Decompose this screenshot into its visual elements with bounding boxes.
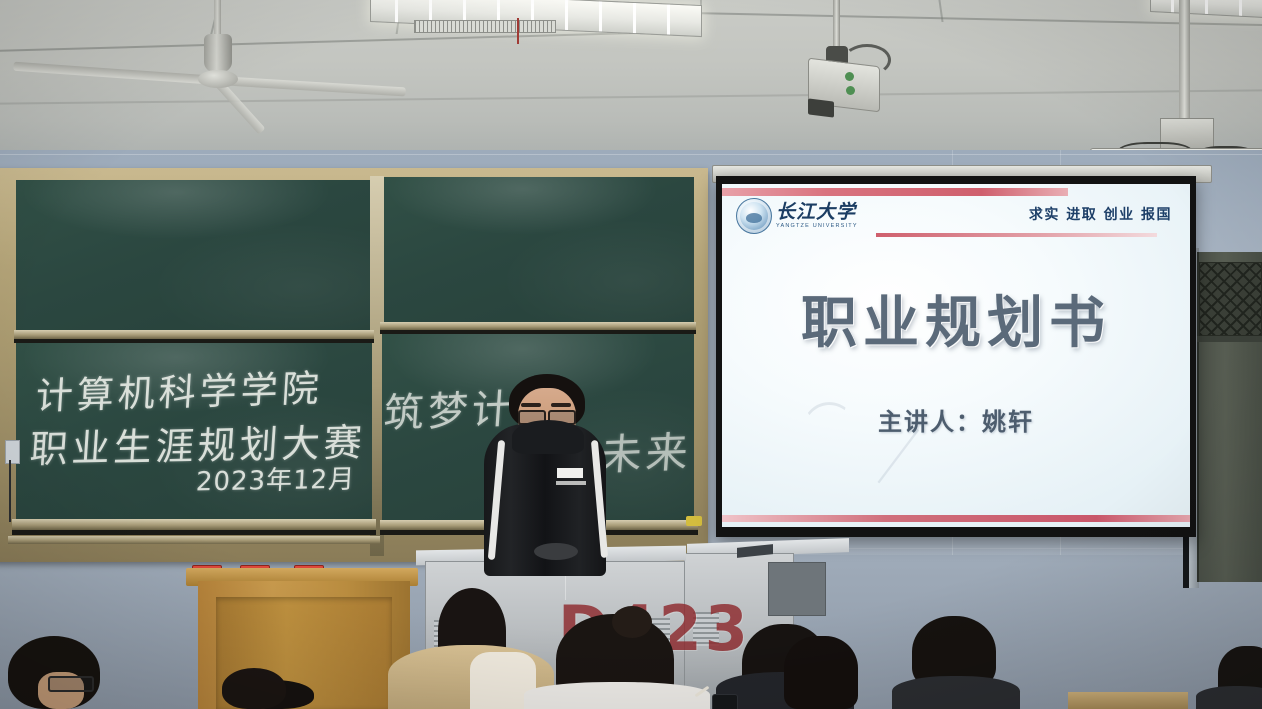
chalkboard-panel-top-right bbox=[382, 177, 694, 325]
university-seal-icon bbox=[736, 198, 772, 234]
chalkboard-ledge-mid-right bbox=[380, 322, 696, 330]
classroom-scene: 计算机科学学院 职业生涯规划大赛 2023年12月 筑梦计科 未来 长江大学 Y… bbox=[0, 0, 1262, 709]
chalkboard-ledge-bottom-left bbox=[12, 519, 376, 530]
projection-screen: 长江大学 YANGTZE UNIVERSITY 求实 进取 创业 报国 ⌒ ／ … bbox=[716, 176, 1196, 537]
presenter-hands bbox=[534, 543, 578, 560]
phone-icon[interactable] bbox=[712, 694, 738, 709]
chalk-text-line3: 2023年12月 bbox=[195, 459, 356, 499]
slide-sub-accent-rule bbox=[876, 233, 1157, 237]
student-desk-edge bbox=[1068, 692, 1188, 709]
wall-cable bbox=[9, 460, 11, 522]
university-name-en: YANGTZE UNIVERSITY bbox=[776, 224, 858, 230]
slide-canvas: 长江大学 YANGTZE UNIVERSITY 求实 进取 创业 报国 ⌒ ／ … bbox=[722, 184, 1190, 527]
teacher-desk-drawer[interactable] bbox=[768, 562, 826, 616]
ceiling-vent-icon bbox=[414, 20, 556, 33]
university-logo: 长江大学 YANGTZE UNIVERSITY bbox=[736, 198, 858, 234]
university-slogan: 求实 进取 创业 报国 bbox=[1029, 204, 1172, 224]
university-name-cn: 长江大学 bbox=[776, 203, 858, 222]
slide-presenter: 主讲人：姚轩 bbox=[722, 402, 1190, 437]
slide-title: 职业规划书 bbox=[722, 278, 1190, 359]
glasses-icon bbox=[48, 676, 94, 692]
hanging-wire bbox=[517, 18, 519, 44]
chalk-text-right2: 未来 bbox=[598, 418, 694, 482]
wall-switch[interactable] bbox=[5, 440, 20, 464]
door-transom-grille-icon bbox=[1199, 262, 1262, 336]
chalk-text-line1: 计算机科学学院 bbox=[34, 358, 324, 420]
chalk-tray-item bbox=[686, 516, 702, 526]
slide-top-accent-bar bbox=[722, 188, 1068, 196]
jacket-logo bbox=[557, 468, 583, 478]
chalkboard-panel-top-left bbox=[16, 180, 372, 332]
chalkboard-ledge-mid-left bbox=[14, 330, 374, 339]
door-rail bbox=[1197, 336, 1262, 342]
slide-bottom-accent-bar bbox=[722, 515, 1190, 522]
